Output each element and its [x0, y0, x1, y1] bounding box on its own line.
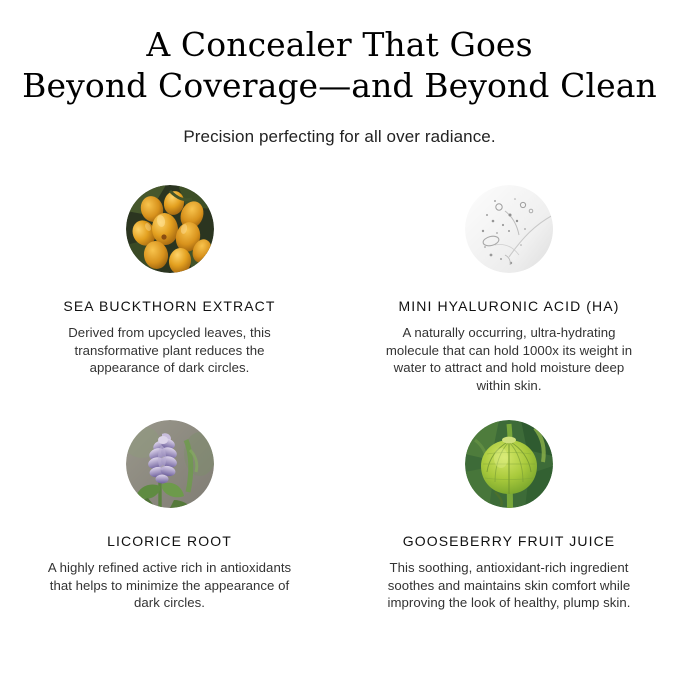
ingredient-description: A naturally occurring, ultra-hydrating m…	[385, 324, 633, 394]
ingredient-description: This soothing, antioxidant-rich ingredie…	[385, 559, 633, 612]
sea-buckthorn-berries-icon	[126, 185, 214, 273]
hyaluronic-acid-gel-icon	[465, 185, 553, 273]
headline-line-2: Beyond Coverage—and Beyond Clean	[0, 65, 679, 106]
page-title: A Concealer That Goes Beyond Coverage—an…	[0, 24, 679, 106]
ingredient-title: LICORICE ROOT	[107, 532, 232, 550]
page-subtitle: Precision perfecting for all over radian…	[0, 126, 679, 148]
ingredient-grid: SEA BUCKTHORN EXTRACT Derived from upcyc…	[0, 185, 679, 612]
ingredient-description: Derived from upcycled leaves, this trans…	[47, 324, 292, 377]
licorice-root-flower-icon	[126, 420, 214, 508]
gooseberry-thumbnail	[465, 420, 553, 508]
ingredient-card-hyaluronic-acid: MINI HYALURONIC ACID (HA) A naturally oc…	[339, 185, 679, 394]
ingredient-card-gooseberry: GOOSEBERRY FRUIT JUICE This soothing, an…	[339, 420, 679, 612]
ingredient-title: MINI HYALURONIC ACID (HA)	[399, 297, 620, 315]
ingredient-card-sea-buckthorn: SEA BUCKTHORN EXTRACT Derived from upcyc…	[0, 185, 339, 394]
header: A Concealer That Goes Beyond Coverage—an…	[0, 0, 679, 148]
ingredient-title: SEA BUCKTHORN EXTRACT	[63, 297, 275, 315]
gooseberry-husk-icon	[465, 420, 553, 508]
licorice-root-thumbnail	[126, 420, 214, 508]
ingredient-title: GOOSEBERRY FRUIT JUICE	[403, 532, 615, 550]
headline-line-1: A Concealer That Goes	[0, 24, 679, 65]
ingredient-card-licorice-root: LICORICE ROOT A highly refined active ri…	[0, 420, 339, 612]
ingredient-benefits-panel: A Concealer That Goes Beyond Coverage—an…	[0, 0, 679, 679]
hyaluronic-acid-thumbnail	[465, 185, 553, 273]
ingredient-description: A highly refined active rich in antioxid…	[47, 559, 292, 612]
sea-buckthorn-thumbnail	[126, 185, 214, 273]
